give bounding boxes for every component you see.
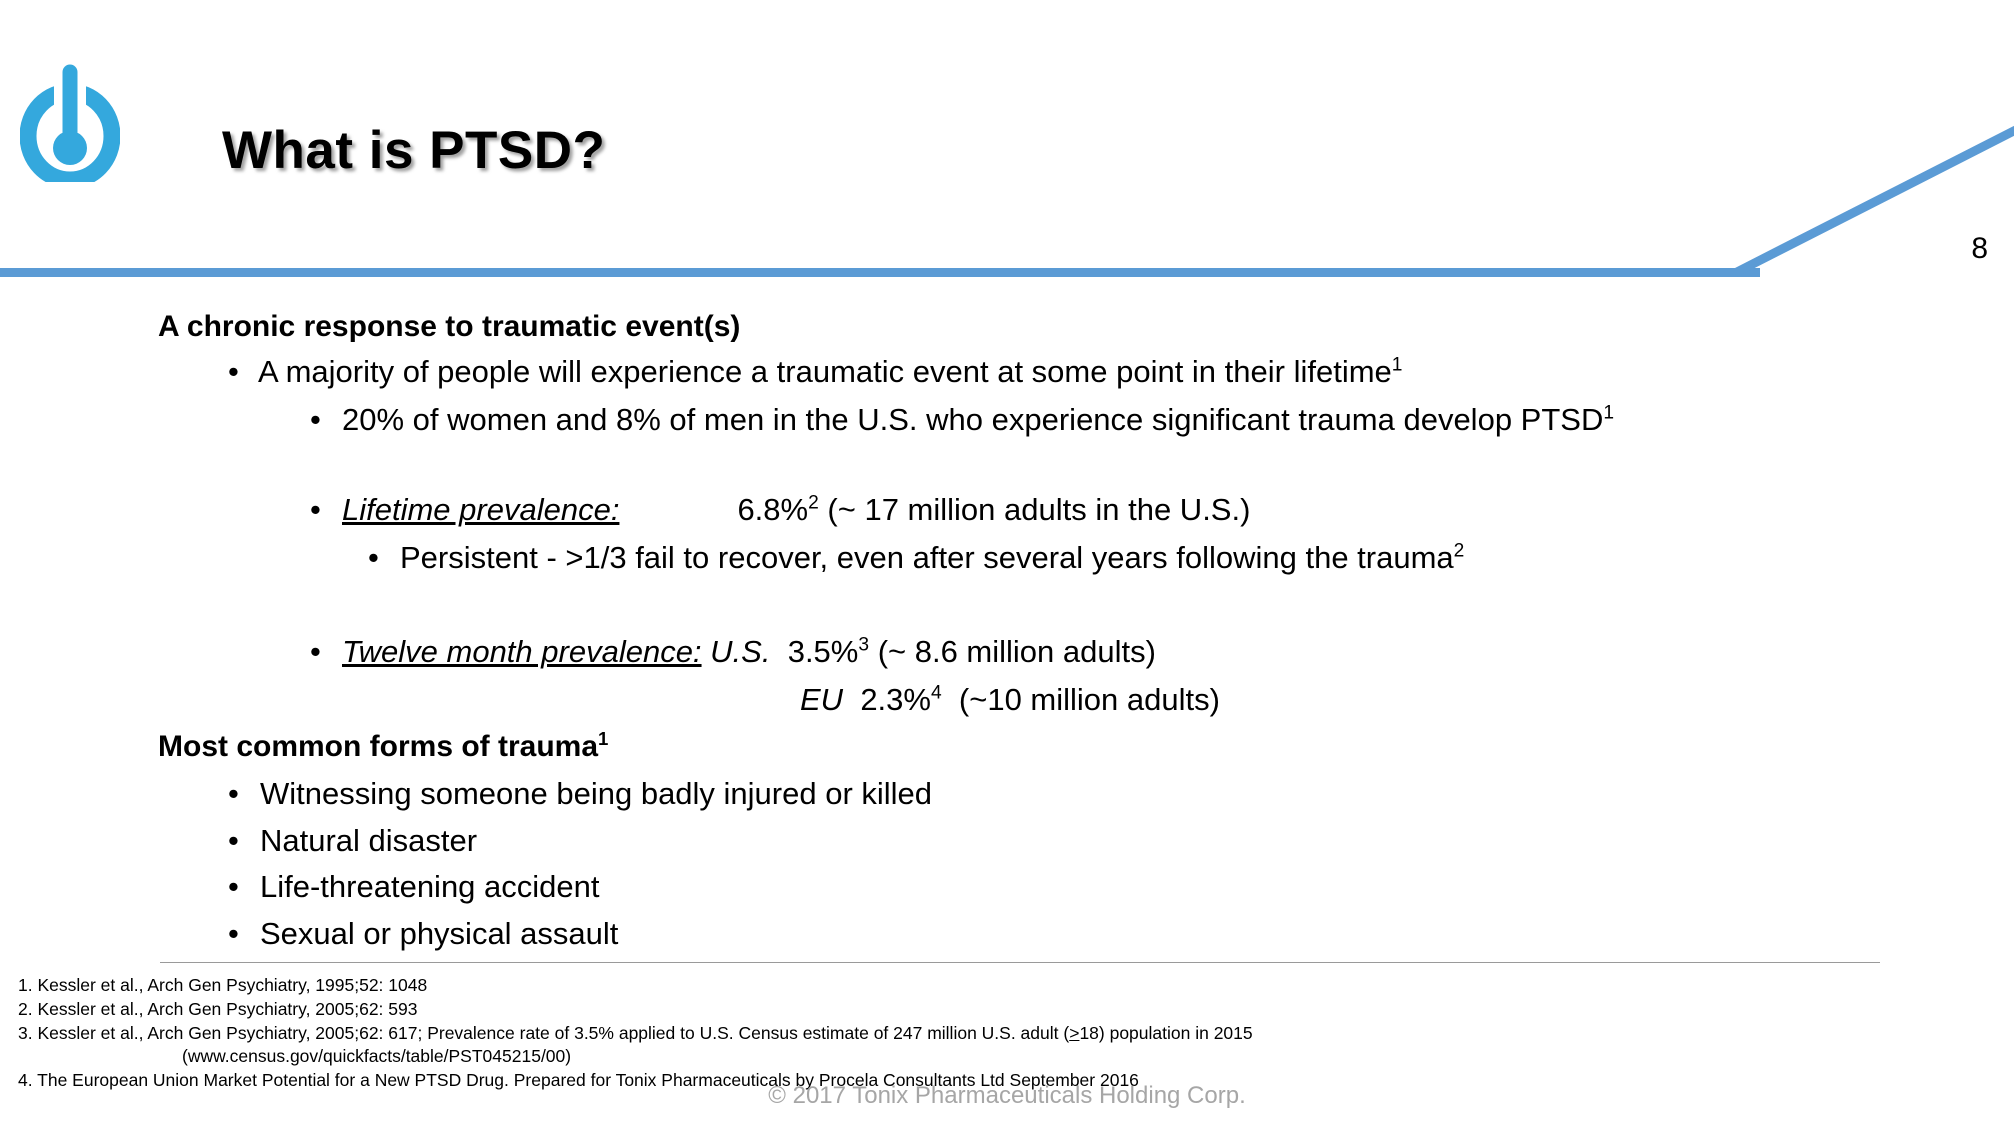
footnote-ref-1: 1 [1392,355,1403,376]
copyright-notice: © 2017 Tonix Pharmaceuticals Holding Cor… [0,1082,2014,1110]
bullet-majority: •A majority of people will experience a … [228,356,1402,389]
list-item: •Natural disaster [228,825,477,858]
region-us: U.S. [710,634,770,669]
footnote-ref-1: 1 [598,728,608,749]
footnote-item-3-url: (www.census.gov/quickfacts/table/PST0452… [18,1045,1253,1069]
power-button-icon [20,62,120,182]
header-rule [0,268,1760,277]
footnote-item-3: 3. Kessler et al., Arch Gen Psychiatry, … [18,1022,1253,1046]
list-item-label: Witnessing someone being badly injured o… [260,776,932,811]
footnote-item-3-post: 18) population in 2015 [1079,1023,1252,1043]
page-number: 8 [1971,232,1988,266]
twelve-month-us-detail: (~ 8.6 million adults) [878,634,1156,669]
section-heading-chronic: A chronic response to traumatic event(s) [158,310,740,344]
footnote-ref-2: 2 [808,493,819,514]
footnote-item-2: 2. Kessler et al., Arch Gen Psychiatry, … [18,998,1253,1022]
list-item: •Life-threatening accident [228,871,600,904]
footnote-item-1: 1. Kessler et al., Arch Gen Psychiatry, … [18,974,1253,998]
lifetime-prevalence-detail: (~ 17 million adults in the U.S.) [827,492,1250,527]
footnote-item-3-pre: 3. Kessler et al., Arch Gen Psychiatry, … [18,1023,1069,1043]
bullet-twelve-month-prevalence: •Twelve month prevalence: U.S. 3.5%3 (~ … [310,636,1156,669]
bullet-marker: • [310,636,342,669]
list-item: •Witnessing someone being badly injured … [228,778,932,811]
bullet-persistent: •Persistent - >1/3 fail to recover, even… [368,542,1464,575]
slide: What is PTSD? 8 A chronic response to tr… [0,0,2014,1125]
bullet-marker: • [368,542,400,575]
footnote-ref-4: 4 [931,683,942,704]
bullet-marker: • [228,356,258,389]
twelve-month-eu-value: 2.3% [860,682,931,717]
section-heading-forms-text: Most common forms of trauma [158,730,598,763]
bullet-marker: • [228,918,260,951]
footnote-ref-3: 3 [858,635,869,656]
twelve-month-us-value: 3.5% [788,634,859,669]
twelve-month-eu-row: EU 2.3%4 (~10 million adults) [800,684,1220,717]
greater-or-equal-glyph: > [1069,1023,1079,1043]
bullet-prevalence-by-sex-text: 20% of women and 8% of men in the U.S. w… [342,402,1603,437]
page-title: What is PTSD? [222,120,605,181]
list-item-label: Life-threatening accident [260,869,600,904]
lifetime-prevalence-label: Lifetime prevalence: [342,492,619,527]
region-eu: EU [800,682,843,717]
bullet-marker: • [310,404,342,437]
bullet-lifetime-prevalence: •Lifetime prevalence:6.8%2 (~ 17 million… [310,494,1250,527]
footnote-ref-1: 1 [1603,403,1614,424]
list-item-label: Natural disaster [260,823,477,858]
section-heading-forms: Most common forms of trauma1 [158,730,608,764]
footnote-ref-2: 2 [1454,541,1465,562]
bullet-marker: • [228,825,260,858]
twelve-month-prevalence-label: Twelve month prevalence: [342,634,702,669]
list-item-label: Sexual or physical assault [260,916,618,951]
bullet-marker: • [310,494,342,527]
twelve-month-eu-detail: (~10 million adults) [959,682,1220,717]
bullet-majority-text: A majority of people will experience a t… [258,354,1392,389]
footnote-divider [160,962,1880,963]
footnotes: 1. Kessler et al., Arch Gen Psychiatry, … [18,974,1253,1093]
list-item: •Sexual or physical assault [228,918,618,951]
bullet-persistent-text: Persistent - >1/3 fail to recover, even … [400,540,1454,575]
bullet-prevalence-by-sex: •20% of women and 8% of men in the U.S. … [310,404,1614,437]
bullet-marker: • [228,778,260,811]
bullet-marker: • [228,871,260,904]
lifetime-prevalence-value: 6.8% [737,492,808,527]
